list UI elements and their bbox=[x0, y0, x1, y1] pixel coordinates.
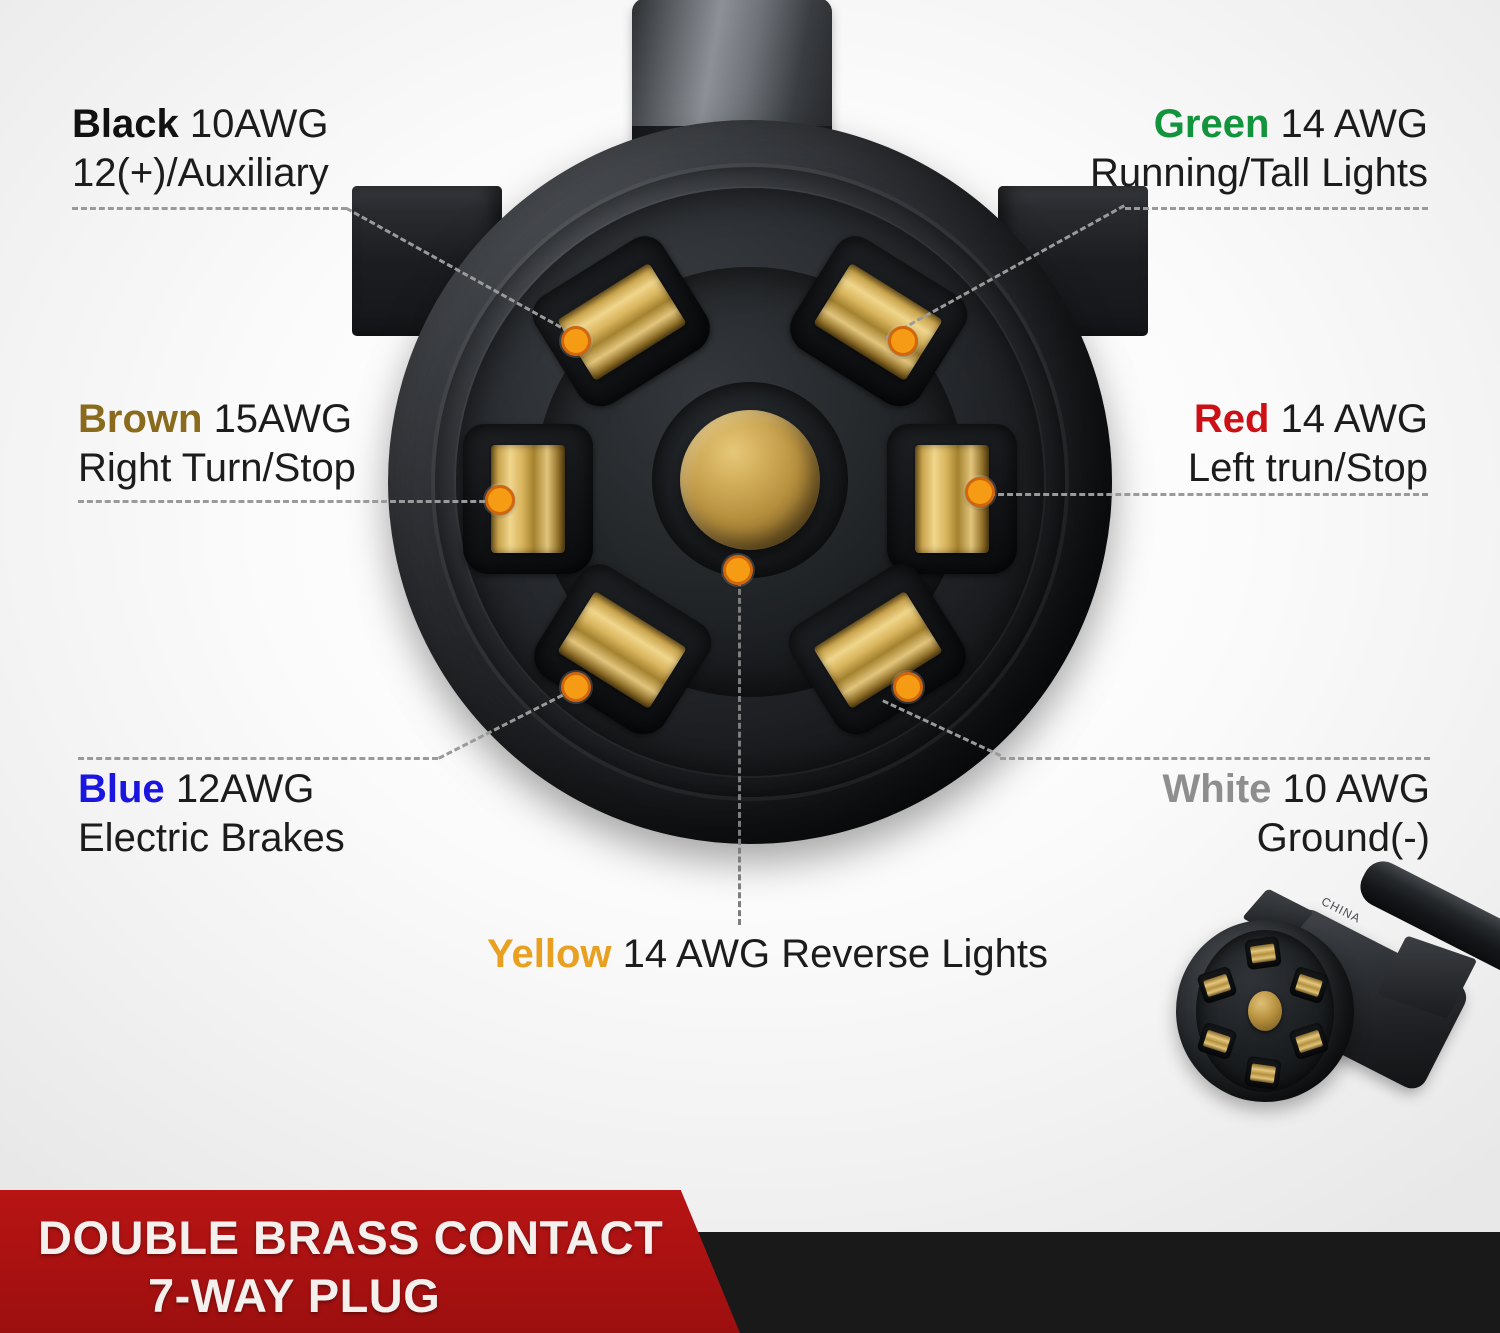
pin-label-green-gauge: 14 AWG bbox=[1281, 102, 1428, 146]
inset-contact-slot bbox=[1196, 1021, 1238, 1060]
pin-label-white: White 10 AWG Ground(-) bbox=[1163, 765, 1430, 863]
pin-label-yellow-function: Reverse Lights bbox=[781, 932, 1048, 976]
leader-line-yellow bbox=[738, 580, 741, 925]
connector-barrel bbox=[388, 120, 1112, 844]
leader-line-red bbox=[980, 493, 1428, 496]
connector-inner-ring bbox=[456, 188, 1044, 776]
product-title-banner: DOUBLE BRASS CONTACT 7-WAY PLUG bbox=[0, 1190, 740, 1333]
marker-dot-black bbox=[561, 326, 591, 356]
contact-slot-red bbox=[887, 424, 1017, 574]
marker-dot-yellow bbox=[723, 555, 753, 585]
leader-line-brown bbox=[78, 500, 503, 503]
brass-blade bbox=[557, 263, 687, 381]
marker-dot-blue bbox=[561, 672, 591, 702]
inset-plug-head bbox=[1176, 920, 1354, 1102]
pin-label-blue-function: Electric Brakes bbox=[78, 814, 345, 863]
pin-label-green-function: Running/Tall Lights bbox=[1090, 149, 1428, 198]
leader-line-green bbox=[1125, 207, 1428, 210]
pin-label-brown: Brown 15AWG Right Turn/Stop bbox=[78, 395, 356, 493]
pin-label-blue-color: Blue bbox=[78, 767, 165, 811]
center-brass-pin-yellow bbox=[680, 410, 820, 550]
leader-line-blue bbox=[78, 757, 438, 760]
inset-brass-blade bbox=[1295, 1029, 1323, 1053]
inset-contact-slot bbox=[1244, 1056, 1282, 1090]
pin-label-black-function: 12(+)/Auxiliary bbox=[72, 149, 329, 198]
pin-label-yellow-color: Yellow bbox=[487, 932, 612, 976]
plug-inset-photo: CHINA bbox=[1168, 858, 1500, 1158]
pin-label-black-gauge: 10AWG bbox=[190, 102, 329, 146]
pin-label-red-color: Red bbox=[1194, 397, 1270, 441]
marker-dot-red bbox=[965, 477, 995, 507]
brass-blade bbox=[813, 591, 943, 709]
pin-label-red-gauge: 14 AWG bbox=[1281, 397, 1428, 441]
pin-label-yellow-gauge: 14 AWG bbox=[623, 932, 770, 976]
inset-brass-blade bbox=[1203, 973, 1231, 997]
pin-label-black: Black 10AWG 12(+)/Auxiliary bbox=[72, 100, 329, 198]
pin-label-green-color: Green bbox=[1154, 102, 1270, 146]
inset-contact-slot bbox=[1288, 1021, 1330, 1060]
inset-brass-blade bbox=[1295, 973, 1323, 997]
inset-brass-blade bbox=[1250, 1063, 1276, 1083]
pin-label-white-color: White bbox=[1163, 767, 1272, 811]
leader-line-white bbox=[1000, 757, 1430, 760]
pin-label-brown-gauge: 15AWG bbox=[214, 397, 353, 441]
pin-label-red: Red 14 AWG Left trun/Stop bbox=[1188, 395, 1428, 493]
inset-brass-blade bbox=[1203, 1029, 1231, 1053]
inset-contact-face bbox=[1196, 930, 1334, 1092]
inset-contact-slot bbox=[1196, 965, 1238, 1004]
product-diagram: Black 10AWG 12(+)/Auxiliary Green 14 AWG… bbox=[0, 0, 1500, 1333]
inset-contact-slot bbox=[1288, 965, 1330, 1004]
banner-line-2: 7-WAY PLUG bbox=[148, 1268, 440, 1323]
seven-way-connector-illustration bbox=[330, 0, 1170, 830]
brass-blade bbox=[813, 263, 943, 381]
leader-line-black bbox=[72, 207, 347, 210]
pin-label-brown-function: Right Turn/Stop bbox=[78, 444, 356, 493]
pin-label-blue: Blue 12AWG Electric Brakes bbox=[78, 765, 345, 863]
marker-dot-white bbox=[893, 672, 923, 702]
pin-label-green: Green 14 AWG Running/Tall Lights bbox=[1090, 100, 1428, 198]
pin-label-black-color: Black bbox=[72, 102, 179, 146]
marker-dot-green bbox=[888, 326, 918, 356]
pin-label-white-gauge: 10 AWG bbox=[1283, 767, 1430, 811]
contact-slot-brown bbox=[463, 424, 593, 574]
pin-label-blue-gauge: 12AWG bbox=[176, 767, 315, 811]
inset-brass-blade bbox=[1250, 943, 1276, 963]
banner-line-1: DOUBLE BRASS CONTACT bbox=[38, 1210, 663, 1265]
marker-dot-brown bbox=[485, 485, 515, 515]
pin-label-brown-color: Brown bbox=[78, 397, 202, 441]
pin-label-white-function: Ground(-) bbox=[1163, 814, 1430, 863]
inset-contact-slot bbox=[1244, 936, 1282, 970]
pin-label-red-function: Left trun/Stop bbox=[1188, 444, 1428, 493]
inset-center-pin bbox=[1248, 991, 1282, 1031]
pin-label-yellow: Yellow 14 AWG Reverse Lights bbox=[487, 930, 1048, 979]
